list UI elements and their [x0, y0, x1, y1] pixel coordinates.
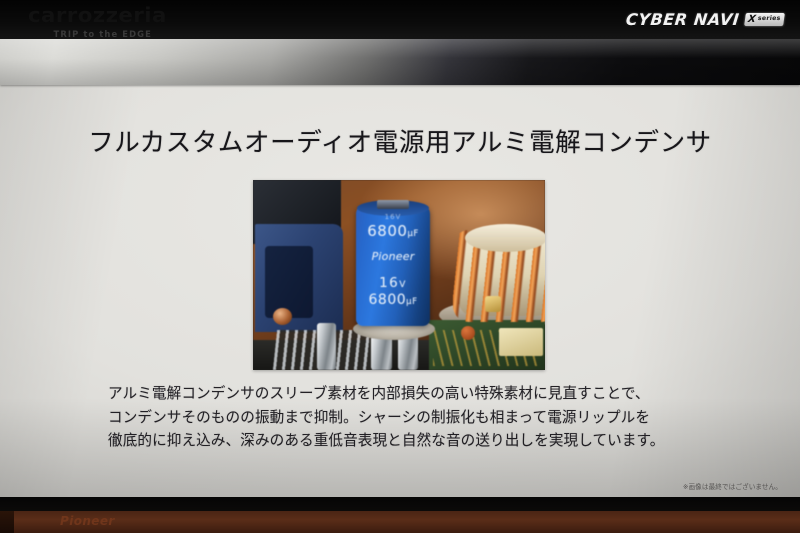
capacitor-top-voltage-label: 16V — [356, 213, 430, 221]
pioneer-stand-logo: Pioneer — [60, 514, 115, 528]
capacitance-bottom-unit: µF — [406, 297, 417, 307]
screenshot-root: 16V 6800µF Pioneer 16V 6800µF フルカスタムオーディ… — [0, 0, 800, 533]
brand-tagline: TRIP to the EDGE — [28, 29, 161, 39]
body-line: コンデンサそのものの振動まで抑制。シャーシの制振化も相まって電源リップルを — [108, 406, 708, 430]
photo-content: 16V 6800µF Pioneer 16V 6800µF — [253, 180, 545, 370]
capacitor-photo: 16V 6800µF Pioneer 16V 6800µF — [253, 180, 545, 370]
x-series-mark: X — [747, 15, 756, 25]
voltage-unit: V — [399, 280, 407, 290]
x-series-label: series — [757, 16, 781, 22]
photo-yellow-component-small — [485, 296, 501, 312]
capacitance-top-unit: µF — [407, 229, 418, 239]
body-line: 徹底的に抑え込み、深みのある重低音表現と自然な音の送り出しを実現しています。 — [108, 429, 708, 453]
slide-disclaimer: ※画像は最終ではございません。 — [683, 481, 782, 491]
photo-screw — [273, 308, 292, 325]
capacitor-capacitance-top-label: 6800µF — [356, 222, 430, 240]
photo-yellow-component — [499, 328, 543, 356]
carrozzeria-logo: carrozzeria TRIP to the EDGE — [28, 5, 161, 39]
below-screen-shadow — [0, 497, 800, 511]
capacitance-top-value: 6800 — [367, 222, 407, 240]
photo-small-capacitor — [317, 323, 336, 370]
photo-red-component — [461, 326, 475, 340]
capacitor-voltage-label: 16V — [356, 275, 430, 291]
slide-header-bar — [0, 39, 800, 85]
cyber-navi-logo: CYBER NAVI X series — [626, 10, 784, 29]
slide-title: フルカスタムオーディオ電源用アルミ電解コンデンサ — [0, 122, 800, 159]
x-series-badge: X series — [744, 13, 785, 26]
photo-small-capacitor — [371, 336, 392, 370]
capacitance-bottom-value: 6800 — [369, 292, 407, 308]
voltage-value: 16 — [379, 275, 399, 291]
slide-body-copy: アルミ電解コンデンサのスリーブ素材を内部損失の高い特殊素材に見直すことで、 コン… — [108, 382, 708, 453]
cyber-navi-wordmark: CYBER NAVI — [625, 10, 740, 29]
photo-capacitor-vent — [377, 200, 409, 209]
brand-name: carrozzeria — [28, 5, 167, 26]
capacitor-brand-label: Pioneer — [356, 250, 430, 263]
photo-heatsink-blue — [255, 224, 343, 332]
below-screen-stand — [0, 511, 800, 533]
photo-toroid-top — [465, 224, 545, 252]
capacitor-capacitance-bottom-label: 6800µF — [356, 292, 430, 308]
body-line: アルミ電解コンデンサのスリーブ素材を内部損失の高い特殊素材に見直すことで、 — [108, 382, 708, 406]
